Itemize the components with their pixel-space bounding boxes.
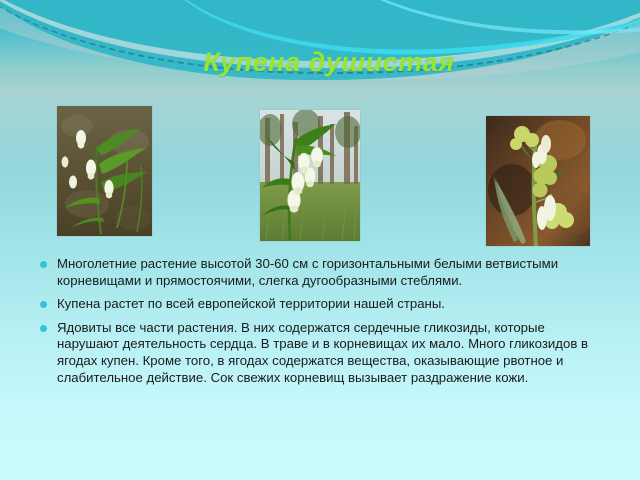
header-wave-cyan-stripe-2 (295, 0, 640, 44)
bullet-item-2: Купена растет по всей европейской террит… (38, 296, 610, 313)
bullet-dot-icon (40, 325, 47, 332)
presentation-slide: Купена душистая (0, 0, 640, 480)
bullet-text-3: Ядовиты все части растения. В них содерж… (57, 320, 610, 386)
bullet-dot-icon (40, 261, 47, 268)
body-bullet-list: Многолетние растение высотой 30-60 см с … (38, 256, 610, 386)
bullet-text-1: Многолетние растение высотой 30-60 см с … (57, 256, 610, 289)
bullet-item-1: Многолетние растение высотой 30-60 см с … (38, 256, 610, 289)
plant-photo-2-image (260, 110, 360, 241)
plant-photo-1 (57, 106, 152, 236)
plant-photo-3 (486, 116, 590, 246)
slide-title: Купена душистая (0, 47, 640, 78)
bullet-text-2: Купена растет по всей европейской террит… (57, 296, 610, 313)
bullet-item-3: Ядовиты все части растения. В них содерж… (38, 320, 610, 386)
plant-photo-2 (260, 110, 360, 241)
bullet-dot-icon (40, 301, 47, 308)
plant-photo-1-image (57, 106, 152, 236)
plant-photo-3-image (486, 116, 590, 246)
